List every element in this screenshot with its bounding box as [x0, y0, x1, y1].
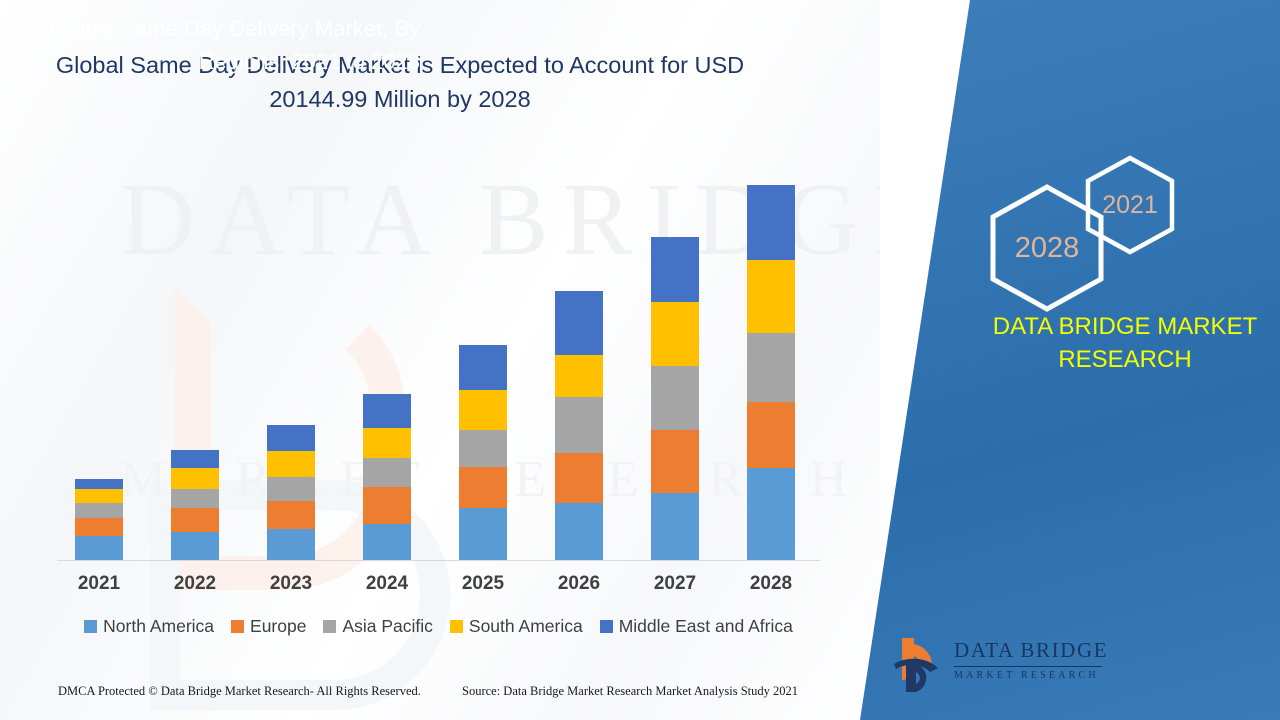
legend-swatch-icon	[600, 620, 613, 633]
bar-segment-north-america	[747, 468, 795, 560]
bar-segment-asia-pacific	[555, 397, 603, 453]
bar-segment-middle-east-and-africa	[75, 479, 123, 489]
bar-segment-north-america	[651, 493, 699, 560]
bar-segment-europe	[747, 402, 795, 468]
hexagon-badge-2021: 2021	[1085, 155, 1175, 255]
hexagon-badge-2021-label: 2021	[1102, 191, 1158, 220]
logo-subtitle: MARKET RESEARCH	[954, 670, 1104, 681]
bar-2021	[75, 479, 123, 560]
x-axis-label-2024: 2024	[339, 573, 435, 595]
copyright-notice: DMCA Protected © Data Bridge Market Rese…	[58, 684, 421, 699]
logo-name: DATA BRIDGE	[954, 638, 1104, 663]
legend-swatch-icon	[323, 620, 336, 633]
bar-segment-south-america	[363, 428, 411, 458]
bar-segment-north-america	[363, 524, 411, 560]
bar-2023	[267, 425, 315, 560]
brand-name: DATA BRIDGE MARKET RESEARCH	[980, 310, 1270, 376]
legend-item-asia-pacific[interactable]: Asia Pacific	[323, 616, 432, 637]
legend-label: Europe	[250, 616, 306, 637]
bar-segment-asia-pacific	[267, 477, 315, 501]
bar-segment-europe	[171, 508, 219, 532]
bar-2025	[459, 345, 507, 560]
chart-legend: North AmericaEuropeAsia PacificSouth Ame…	[57, 616, 820, 637]
bar-segment-south-america	[651, 302, 699, 366]
bar-2022	[171, 450, 219, 560]
bar-segment-north-america	[75, 536, 123, 560]
logo-wordmark: DATA BRIDGE MARKET RESEARCH	[954, 638, 1104, 681]
bar-segment-middle-east-and-africa	[267, 425, 315, 451]
bar-stack	[555, 291, 603, 560]
bar-stack	[363, 394, 411, 560]
bar-segment-europe	[363, 487, 411, 524]
legend-label: North America	[103, 616, 214, 637]
bar-segment-south-america	[747, 260, 795, 333]
bar-segment-asia-pacific	[75, 503, 123, 518]
legend-item-north-america[interactable]: North America	[84, 616, 214, 637]
bar-segment-middle-east-and-africa	[459, 345, 507, 390]
bar-stack	[651, 237, 699, 560]
bar-segment-europe	[651, 430, 699, 493]
bar-segment-middle-east-and-africa	[363, 394, 411, 428]
bar-segment-south-america	[75, 489, 123, 503]
bar-segment-south-america	[555, 355, 603, 397]
bar-segment-europe	[459, 467, 507, 508]
logo-divider	[954, 666, 1102, 667]
bar-segment-asia-pacific	[459, 430, 507, 467]
x-axis-label-2023: 2023	[243, 573, 339, 595]
bar-segment-asia-pacific	[171, 489, 219, 508]
bar-stack	[171, 450, 219, 560]
bar-stack	[267, 425, 315, 560]
bar-segment-asia-pacific	[747, 333, 795, 402]
x-axis-label-2022: 2022	[147, 573, 243, 595]
chart-panel: DATA BRIDGE MARKET RESEARCH Global Same …	[0, 0, 880, 720]
bar-segment-middle-east-and-africa	[171, 450, 219, 468]
legend-item-europe[interactable]: Europe	[231, 616, 306, 637]
side-panel-title: Global Same Day Delivery Market, By Regi…	[30, 12, 420, 78]
company-logo: DATA BRIDGE MARKET RESEARCH	[892, 634, 1102, 696]
x-axis-label-2021: 2021	[51, 573, 147, 595]
legend-swatch-icon	[231, 620, 244, 633]
x-axis-label-2025: 2025	[435, 573, 531, 595]
bar-2027	[651, 237, 699, 560]
bar-2028	[747, 185, 795, 560]
legend-item-south-america[interactable]: South America	[450, 616, 583, 637]
bar-segment-middle-east-and-africa	[651, 237, 699, 302]
x-axis-label-2027: 2027	[627, 573, 723, 595]
legend-label: South America	[469, 616, 583, 637]
bar-segment-asia-pacific	[651, 366, 699, 430]
legend-label: Middle East and Africa	[619, 616, 793, 637]
bar-segment-middle-east-and-africa	[555, 291, 603, 355]
bar-segment-europe	[267, 501, 315, 529]
legend-swatch-icon	[84, 620, 97, 633]
bar-stack	[459, 345, 507, 560]
legend-label: Asia Pacific	[342, 616, 432, 637]
bar-segment-north-america	[555, 503, 603, 560]
bar-segment-europe	[555, 453, 603, 503]
source-note: Source: Data Bridge Market Research Mark…	[462, 684, 798, 699]
brand-name-line-2: RESEARCH	[980, 343, 1270, 376]
data-bridge-monogram-icon	[892, 634, 950, 694]
bar-2024	[363, 394, 411, 560]
legend-item-middle-east-and-africa[interactable]: Middle East and Africa	[600, 616, 793, 637]
bar-segment-middle-east-and-africa	[747, 185, 795, 260]
hexagon-badge-2028-label: 2028	[1015, 232, 1080, 265]
bar-stack	[75, 479, 123, 560]
bar-2026	[555, 291, 603, 560]
bar-segment-south-america	[267, 451, 315, 477]
x-axis-label-2026: 2026	[531, 573, 627, 595]
bar-segment-asia-pacific	[363, 458, 411, 487]
legend-swatch-icon	[450, 620, 463, 633]
x-axis-label-2028: 2028	[723, 573, 819, 595]
bar-segment-north-america	[171, 532, 219, 560]
bar-stack	[747, 185, 795, 560]
brand-name-line-1: DATA BRIDGE MARKET	[980, 310, 1270, 343]
bar-segment-europe	[75, 518, 123, 536]
bar-segment-south-america	[171, 468, 219, 489]
stacked-bar-chart: 20212022202320242025202620272028	[0, 0, 880, 720]
bar-segment-south-america	[459, 390, 507, 430]
x-axis-line	[57, 560, 820, 561]
bar-segment-north-america	[267, 529, 315, 560]
bar-segment-north-america	[459, 508, 507, 560]
